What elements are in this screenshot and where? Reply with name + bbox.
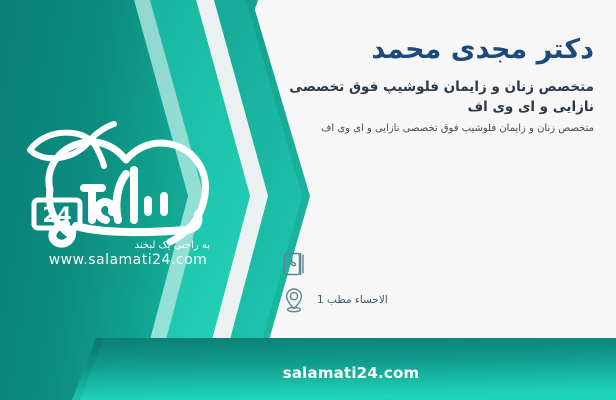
salamati24-logo: 24 به راحتی یک لبخند www.salamati24.com [14,108,242,268]
footer-website[interactable]: salamati24.com [0,364,616,382]
map-pin-icon[interactable] [280,285,308,315]
specialty-line-2: نازایی و ای وی اف [264,98,594,118]
specialty-line-1: متخصص زنان و زایمان فلوشیپ فوق تخصصی [264,78,594,98]
location-label: الاحساء مطب 1 [317,294,388,306]
specialty-text: متخصص زنان و زایمان فلوشیپ فوق تخصصی ناز… [264,78,594,117]
logo-tagline: به راحتی یک لبخند [135,240,210,251]
contact-row-location[interactable]: الاحساء مطب 1 [280,282,600,318]
contact-block: الاحساء مطب 1 [280,246,600,318]
contact-row-phone[interactable] [280,246,600,282]
svg-text:24: 24 [42,203,71,227]
business-card: 24 به راحتی یک لبخند www.salamati24.com … [0,0,616,400]
doctor-name: دکتر مجدی محمد [264,34,594,65]
phone-book-icon[interactable] [280,249,308,279]
specialty-secondary-text: متخصص زنان و زایمان فلوشیپ فوق تخصصی ناز… [264,121,594,137]
profile-text-block: دکتر مجدی محمد متخصص زنان و زایمان فلوشی… [264,34,594,137]
logo-url: www.salamati24.com [49,252,208,268]
